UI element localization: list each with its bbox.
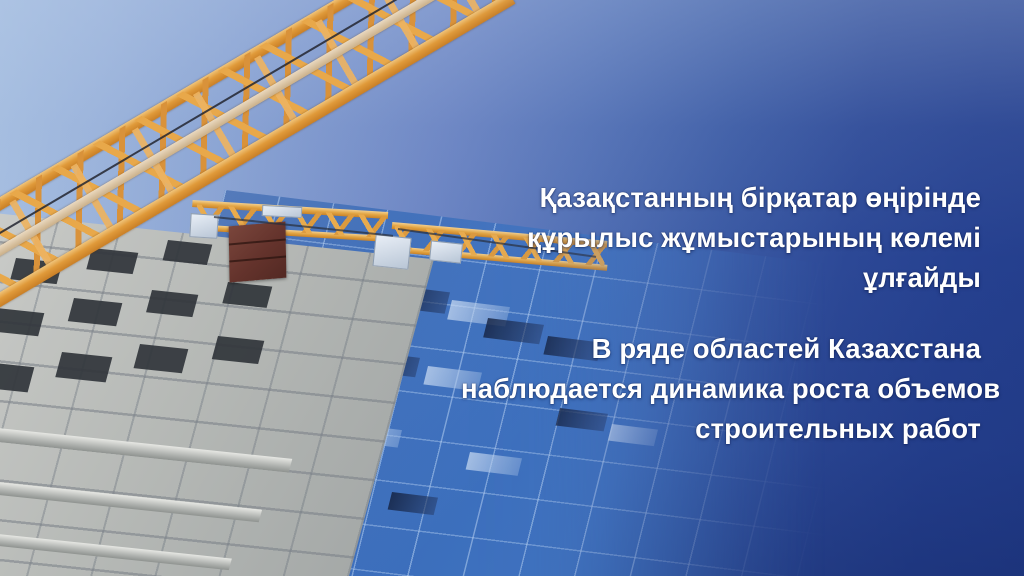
crane-operator-cabin <box>372 234 411 270</box>
headline-russian-line-1: В ряде областей Казахстана <box>461 329 981 369</box>
slab-opening <box>55 352 112 382</box>
crane-counterweight <box>229 221 287 282</box>
slab-opening <box>68 298 123 326</box>
headline-kazakh-line-3: ұлғайды <box>461 258 981 298</box>
slab-opening <box>146 290 198 317</box>
slab-opening <box>222 282 272 308</box>
headline-russian: В ряде областей Казахстана наблюдается д… <box>461 329 981 449</box>
headline-kazakh-line-1: Қазақстанның бірқатар өңірінде <box>461 178 981 218</box>
headline-kazakh: Қазақстанның бірқатар өңірінде құрылыс ж… <box>461 178 981 298</box>
crane-top-platform <box>262 205 303 218</box>
slab-opening <box>212 336 265 364</box>
slide-canvas: Қазақстанның бірқатар өңірінде құрылыс ж… <box>0 0 1024 576</box>
slab-opening <box>134 344 189 373</box>
headline-kazakh-line-2: құрылыс жұмыстарының көлемі <box>461 218 981 258</box>
headline-russian-line-2: наблюдается динамика роста объемов <box>461 369 981 409</box>
slab-opening <box>0 308 44 336</box>
crane-machinery-deck <box>429 240 463 263</box>
headline-russian-line-3: строительных работ <box>461 409 981 449</box>
